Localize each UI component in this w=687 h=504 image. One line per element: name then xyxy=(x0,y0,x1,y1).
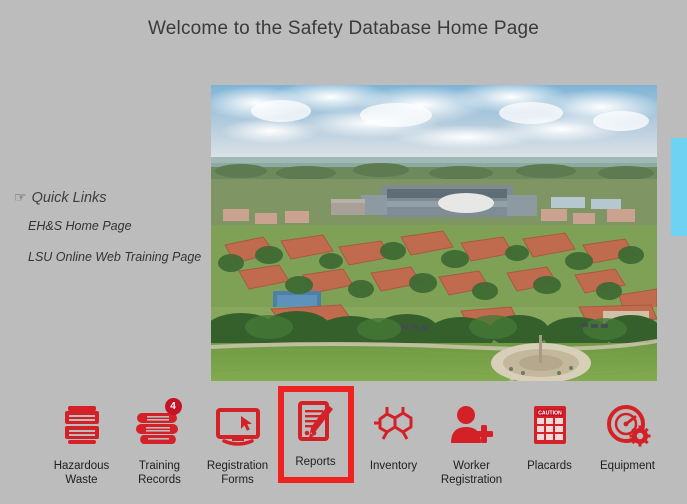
right-scroll-accent-bar[interactable] xyxy=(671,138,687,236)
barrel-icon xyxy=(61,402,103,450)
home-page: Welcome to the Safety Database Home Page… xyxy=(0,0,687,504)
quick-links-panel: ☞ Quick Links EH&S Home Page LSU Online … xyxy=(14,190,214,264)
pointing-hand-icon: ☞ xyxy=(14,190,27,204)
quick-links-heading: ☞ Quick Links xyxy=(14,190,214,206)
training-records-badge: 4 xyxy=(165,398,182,415)
nav-item-equipment[interactable]: Equipment xyxy=(589,392,667,473)
nav-label: Training Records xyxy=(138,459,181,487)
nav-item-inventory[interactable]: Inventory xyxy=(355,392,433,473)
quick-link-ehs-home-page[interactable]: EH&S Home Page xyxy=(28,219,214,233)
placard-caution-text: CAUTION xyxy=(538,411,562,417)
nav-label: Hazardous Waste xyxy=(54,459,110,487)
page-title: Welcome to the Safety Database Home Page xyxy=(0,18,687,40)
campus-aerial-photo xyxy=(211,85,657,381)
nav-item-worker-registration[interactable]: Worker Registration xyxy=(433,392,511,487)
nav-item-placards[interactable]: CAUTION Placards xyxy=(511,392,589,473)
nav-item-hazardous-waste[interactable]: Hazardous Waste xyxy=(43,392,121,487)
quick-link-lsu-online-web-training-page[interactable]: LSU Online Web Training Page xyxy=(28,250,214,264)
nav-item-training-records[interactable]: 4 Training Records xyxy=(121,392,199,487)
nav-label: Inventory xyxy=(370,459,417,473)
monitor-cursor-icon xyxy=(214,402,262,450)
nav-label: Registration Forms xyxy=(207,459,268,487)
books-stack-icon: 4 xyxy=(136,402,184,450)
person-plus-icon xyxy=(447,402,497,450)
nav-label: Reports xyxy=(295,455,335,469)
nav-label: Placards xyxy=(527,459,572,473)
molecule-icon xyxy=(370,402,418,450)
gauge-gear-icon xyxy=(604,402,652,450)
nav-item-reports[interactable]: Reports xyxy=(278,386,354,483)
quick-links-heading-label: Quick Links xyxy=(32,190,107,206)
document-pencil-icon xyxy=(294,398,338,446)
icon-nav-bar: Hazardous Waste xyxy=(0,392,687,504)
nav-item-registration-forms[interactable]: Registration Forms xyxy=(199,392,277,487)
caution-placard-icon: CAUTION xyxy=(530,402,570,450)
nav-label: Worker Registration xyxy=(441,459,502,487)
nav-label: Equipment xyxy=(600,459,655,473)
